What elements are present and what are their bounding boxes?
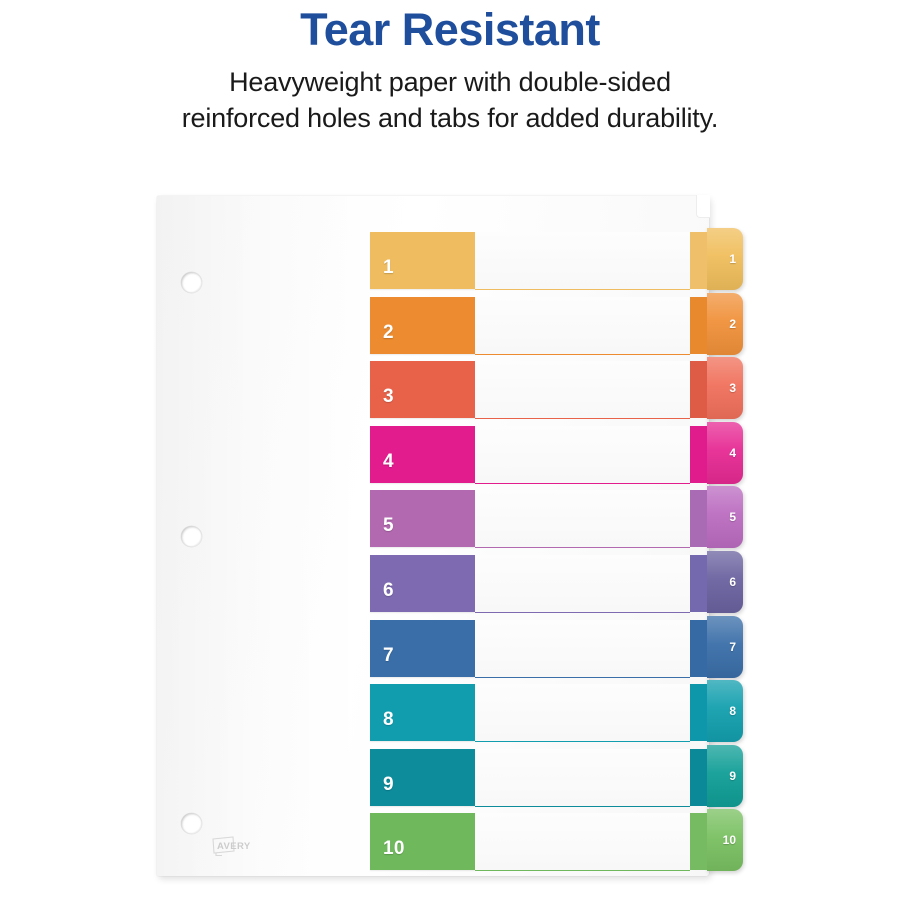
tab-gloss [707,745,743,807]
tab-gloss [707,551,743,613]
tab-writing-strip [475,620,690,678]
divider-tab-row: 77 [0,616,900,680]
tab-number-block: 1 [370,232,475,289]
tab-number-label: 10 [383,838,405,860]
tab-writing-strip [475,297,690,355]
tab-edge-bar [690,232,707,289]
divider-tab-row: 1010 [0,809,900,873]
tab-number-label: 4 [383,451,394,473]
page-subtitle-line-1: Heavyweight paper with double-sided [0,65,900,101]
tab-edge-bar [690,555,707,612]
divider-tab-number: 5 [729,510,736,524]
tab-gloss [707,357,743,419]
divider-tab-number: 4 [729,446,736,460]
tab-number-block: 2 [370,297,475,354]
tab-number-block: 6 [370,555,475,612]
tab-writing-strip [475,813,690,871]
divider-tab-number: 6 [729,575,736,589]
tab-gloss [707,680,743,742]
divider-tab-row: 99 [0,745,900,809]
divider-tab[interactable]: 4 [707,422,743,484]
tab-edge-bar [690,361,707,418]
divider-tab-number: 10 [723,833,736,847]
tab-writing-strip [475,361,690,419]
divider-tab[interactable]: 9 [707,745,743,807]
divider-tab-rows: 1122334455667788991010 [0,186,900,900]
tab-writing-strip [475,426,690,484]
divider-tab-number: 7 [729,640,736,654]
tab-number-label: 7 [383,645,394,667]
divider-tab-row: 33 [0,357,900,421]
divider-tab-row: 11 [0,228,900,292]
page-subtitle-line-2: reinforced holes and tabs for added dura… [0,101,900,137]
divider-tab-number: 9 [729,769,736,783]
divider-tab[interactable]: 1 [707,228,743,290]
tab-gloss [707,293,743,355]
tab-edge-bar [690,813,707,870]
divider-tab[interactable]: 6 [707,551,743,613]
divider-tab-number: 1 [729,252,736,266]
tab-number-block: 10 [370,813,475,870]
tab-number-label: 2 [383,322,394,344]
divider-tab[interactable]: 5 [707,486,743,548]
divider-tab-row: 22 [0,293,900,357]
divider-tab-row: 66 [0,551,900,615]
divider-tab-number: 8 [729,704,736,718]
tab-edge-bar [690,297,707,354]
tab-gloss [707,486,743,548]
tab-gloss [707,228,743,290]
tab-number-label: 6 [383,580,394,602]
divider-tab-row: 44 [0,422,900,486]
tab-writing-strip [475,749,690,807]
divider-tab[interactable]: 8 [707,680,743,742]
divider-tab-row: 55 [0,486,900,550]
tab-number-block: 4 [370,426,475,483]
tab-number-label: 1 [383,257,394,279]
tab-number-label: 5 [383,515,394,537]
tab-edge-bar [690,620,707,677]
divider-tab[interactable]: 7 [707,616,743,678]
tab-edge-bar [690,490,707,547]
tab-number-block: 5 [370,490,475,547]
page-subtitle: Heavyweight paper with double-sided rein… [0,65,900,137]
tab-number-label: 8 [383,709,394,731]
tab-number-block: 8 [370,684,475,741]
tab-number-block: 3 [370,361,475,418]
tab-number-block: 9 [370,749,475,806]
divider-tab[interactable]: 10 [707,809,743,871]
tab-edge-bar [690,749,707,806]
product-image: AVERY 1122334455667788991010 [0,186,900,900]
tab-number-label: 9 [383,774,394,796]
tab-number-block: 7 [370,620,475,677]
tab-writing-strip [475,232,690,290]
divider-tab[interactable]: 3 [707,357,743,419]
tab-writing-strip [475,555,690,613]
divider-tab[interactable]: 2 [707,293,743,355]
tab-writing-strip [475,684,690,742]
divider-tab-row: 88 [0,680,900,744]
divider-tab-number: 3 [729,381,736,395]
tab-gloss [707,616,743,678]
header: Tear Resistant Heavyweight paper with do… [0,0,900,137]
divider-tab-number: 2 [729,317,736,331]
tab-number-label: 3 [383,386,394,408]
tab-edge-bar [690,426,707,483]
page-title: Tear Resistant [0,4,900,56]
tab-gloss [707,422,743,484]
tab-writing-strip [475,490,690,548]
tab-edge-bar [690,684,707,741]
